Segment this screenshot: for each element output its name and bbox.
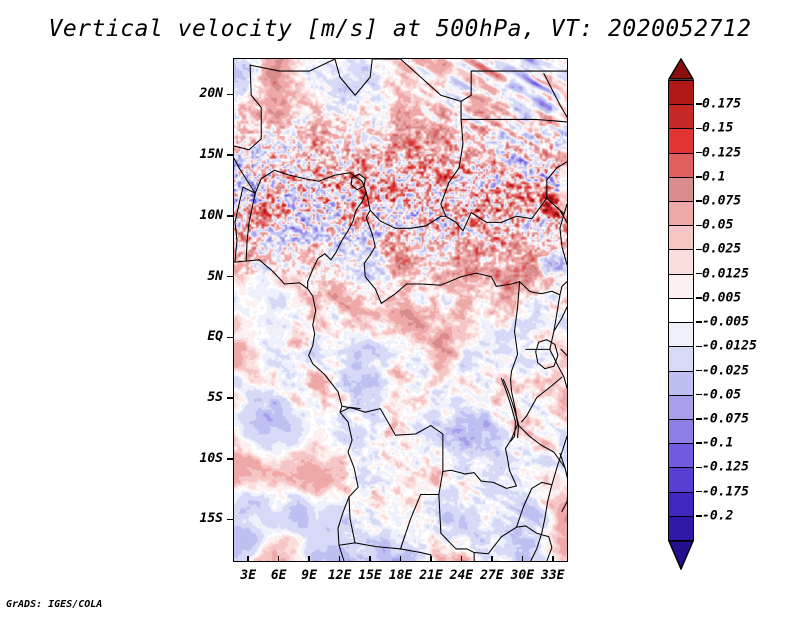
colorbar-tick-mark xyxy=(696,346,702,348)
colorbar-swatch xyxy=(668,177,694,203)
colorbar-swatch xyxy=(668,371,694,397)
colorbar-swatch xyxy=(668,322,694,348)
colorbar-tick-mark xyxy=(696,418,702,420)
y-axis-tick-mark xyxy=(227,337,233,339)
colorbar-swatch xyxy=(668,128,694,154)
colorbar-tick-mark xyxy=(696,515,702,517)
y-axis-tick-mark xyxy=(227,519,233,521)
colorbar-tick-mark xyxy=(696,491,702,493)
colorbar-swatch xyxy=(668,395,694,421)
colorbar-tick-mark xyxy=(696,152,702,154)
y-axis-tick-label: 5S xyxy=(171,390,223,405)
colorbar-tick-label: 0.075 xyxy=(702,194,741,209)
colorbar-tick-label: 0.025 xyxy=(702,242,741,257)
y-axis-tick-label: 15N xyxy=(171,147,223,162)
x-axis-tick-mark xyxy=(430,556,432,562)
colorbar-swatch xyxy=(668,443,694,469)
y-axis-tick-mark xyxy=(227,458,233,460)
colorbar-swatch xyxy=(668,249,694,275)
colorbar-tick-label: -0.005 xyxy=(702,315,749,330)
page-title: Vertical velocity [m/s] at 500hPa, VT: 2… xyxy=(0,16,800,42)
colorbar-tick-label: 0.05 xyxy=(702,218,733,233)
colorbar-tick-mark xyxy=(696,249,702,251)
colorbar-swatch xyxy=(668,492,694,518)
colorbar-swatch xyxy=(668,298,694,324)
x-axis-tick-mark xyxy=(278,556,280,562)
y-axis-tick-label: 15S xyxy=(171,511,223,526)
map-plot-area xyxy=(233,58,568,562)
colorbar-tick-mark xyxy=(696,176,702,178)
colorbar-tick-mark xyxy=(696,200,702,202)
colorbar-tick-label: 0.175 xyxy=(702,97,741,112)
x-axis-tick-mark xyxy=(400,556,402,562)
colorbar-tick-mark xyxy=(696,442,702,444)
colorbar-tick-label: -0.2 xyxy=(702,508,733,523)
x-axis-tick-mark xyxy=(491,556,493,562)
colorbar-tick-label: 0.125 xyxy=(702,145,741,160)
colorbar-tick-label: 0.0125 xyxy=(702,266,749,281)
colorbar-tick-mark xyxy=(696,394,702,396)
x-axis-tick-mark xyxy=(247,556,249,562)
colorbar-tick-label: 0.1 xyxy=(702,169,725,184)
colorbar-swatch xyxy=(668,419,694,445)
y-axis-tick-mark xyxy=(227,154,233,156)
colorbar-tick-mark xyxy=(696,103,702,105)
colorbar-tick-mark xyxy=(696,321,702,323)
x-axis-tick-mark xyxy=(308,556,310,562)
colorbar-tick-label: 0.005 xyxy=(702,290,741,305)
colorbar-tick-label: -0.075 xyxy=(702,411,749,426)
colorbar-tick-mark xyxy=(696,273,702,275)
x-axis-tick-mark xyxy=(369,556,371,562)
x-axis-tick-mark xyxy=(552,556,554,562)
colorbar-swatch xyxy=(668,274,694,300)
y-axis-tick-label: 20N xyxy=(171,86,223,101)
colorbar: 0.1750.150.1250.10.0750.050.0250.01250.0… xyxy=(668,58,800,563)
colorbar-swatch xyxy=(668,346,694,372)
colorbar-tick-mark xyxy=(696,225,702,227)
x-axis-tick-mark xyxy=(339,556,341,562)
x-axis-tick-mark xyxy=(461,556,463,562)
colorbar-swatch xyxy=(668,467,694,493)
colorbar-tick-label: 0.15 xyxy=(702,121,733,136)
colorbar-swatch xyxy=(668,201,694,227)
colorbar-tick-mark xyxy=(696,128,702,130)
colorbar-swatch xyxy=(668,516,694,542)
colorbar-tick-label: -0.175 xyxy=(702,484,749,499)
x-axis-tick-label: 33E xyxy=(528,568,578,583)
colorbar-tick-mark xyxy=(696,370,702,372)
colorbar-tick-mark xyxy=(696,297,702,299)
country-borders-overlay xyxy=(234,59,567,561)
y-axis-tick-label: 5N xyxy=(171,269,223,284)
y-axis-tick-mark xyxy=(227,276,233,278)
colorbar-tick-label: -0.0125 xyxy=(702,339,757,354)
colorbar-swatch xyxy=(668,80,694,106)
x-axis-tick-mark xyxy=(522,556,524,562)
y-axis-tick-mark xyxy=(227,397,233,399)
colorbar-tick-label: -0.05 xyxy=(702,387,741,402)
credit-label: GrADS: IGES/COLA xyxy=(6,599,102,610)
colorbar-tick-mark xyxy=(696,467,702,469)
colorbar-swatch xyxy=(668,153,694,179)
colorbar-min-arrow xyxy=(668,540,694,570)
colorbar-swatch xyxy=(668,104,694,130)
colorbar-tick-label: -0.025 xyxy=(702,363,749,378)
y-axis-tick-label: EQ xyxy=(171,329,223,344)
y-axis-tick-mark xyxy=(227,94,233,96)
y-axis-tick-label: 10N xyxy=(171,208,223,223)
colorbar-tick-label: -0.1 xyxy=(702,436,733,451)
colorbar-max-arrow xyxy=(668,58,694,80)
y-axis-tick-mark xyxy=(227,215,233,217)
colorbar-tick-label: -0.125 xyxy=(702,460,749,475)
colorbar-swatch xyxy=(668,225,694,251)
y-axis-tick-label: 10S xyxy=(171,451,223,466)
